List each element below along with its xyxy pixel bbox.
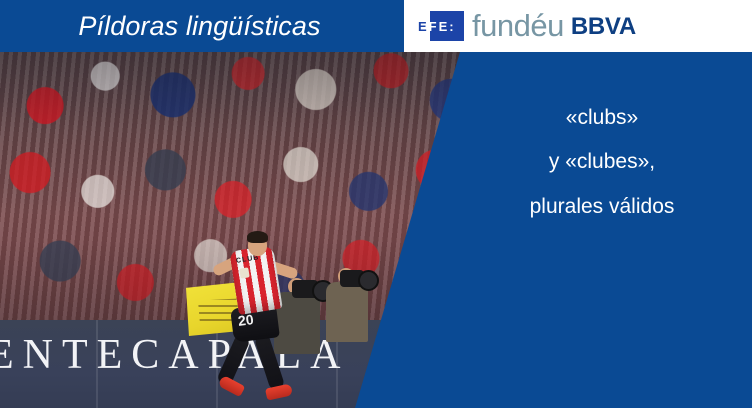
header-bar: Píldoras lingüísticas EFE: fundéu BBVA [0,0,752,52]
player-hair [247,231,268,243]
bbva-wordmark: BBVA [571,15,636,39]
efe-wordmark: EFE: [418,10,466,42]
fundeu-wordmark: fundéu [472,10,564,41]
efe-logo-icon: EFE: [418,10,466,42]
celebrating-player: 20 CLUB [218,248,338,408]
efe-letters-inside: FE: [429,20,456,33]
header-divider [399,0,404,52]
player-club-badge [239,267,249,278]
fundeu-bbva-logo[interactable]: EFE: fundéu BBVA [418,0,636,52]
infographic-card: ENTECAPALA APALA 20 CL [0,0,752,408]
player-leg-front [254,333,286,391]
camera-lens-icon [358,270,379,291]
page-title: Píldoras lingüísticas [0,0,399,52]
efe-letter-outside: E [418,20,429,33]
